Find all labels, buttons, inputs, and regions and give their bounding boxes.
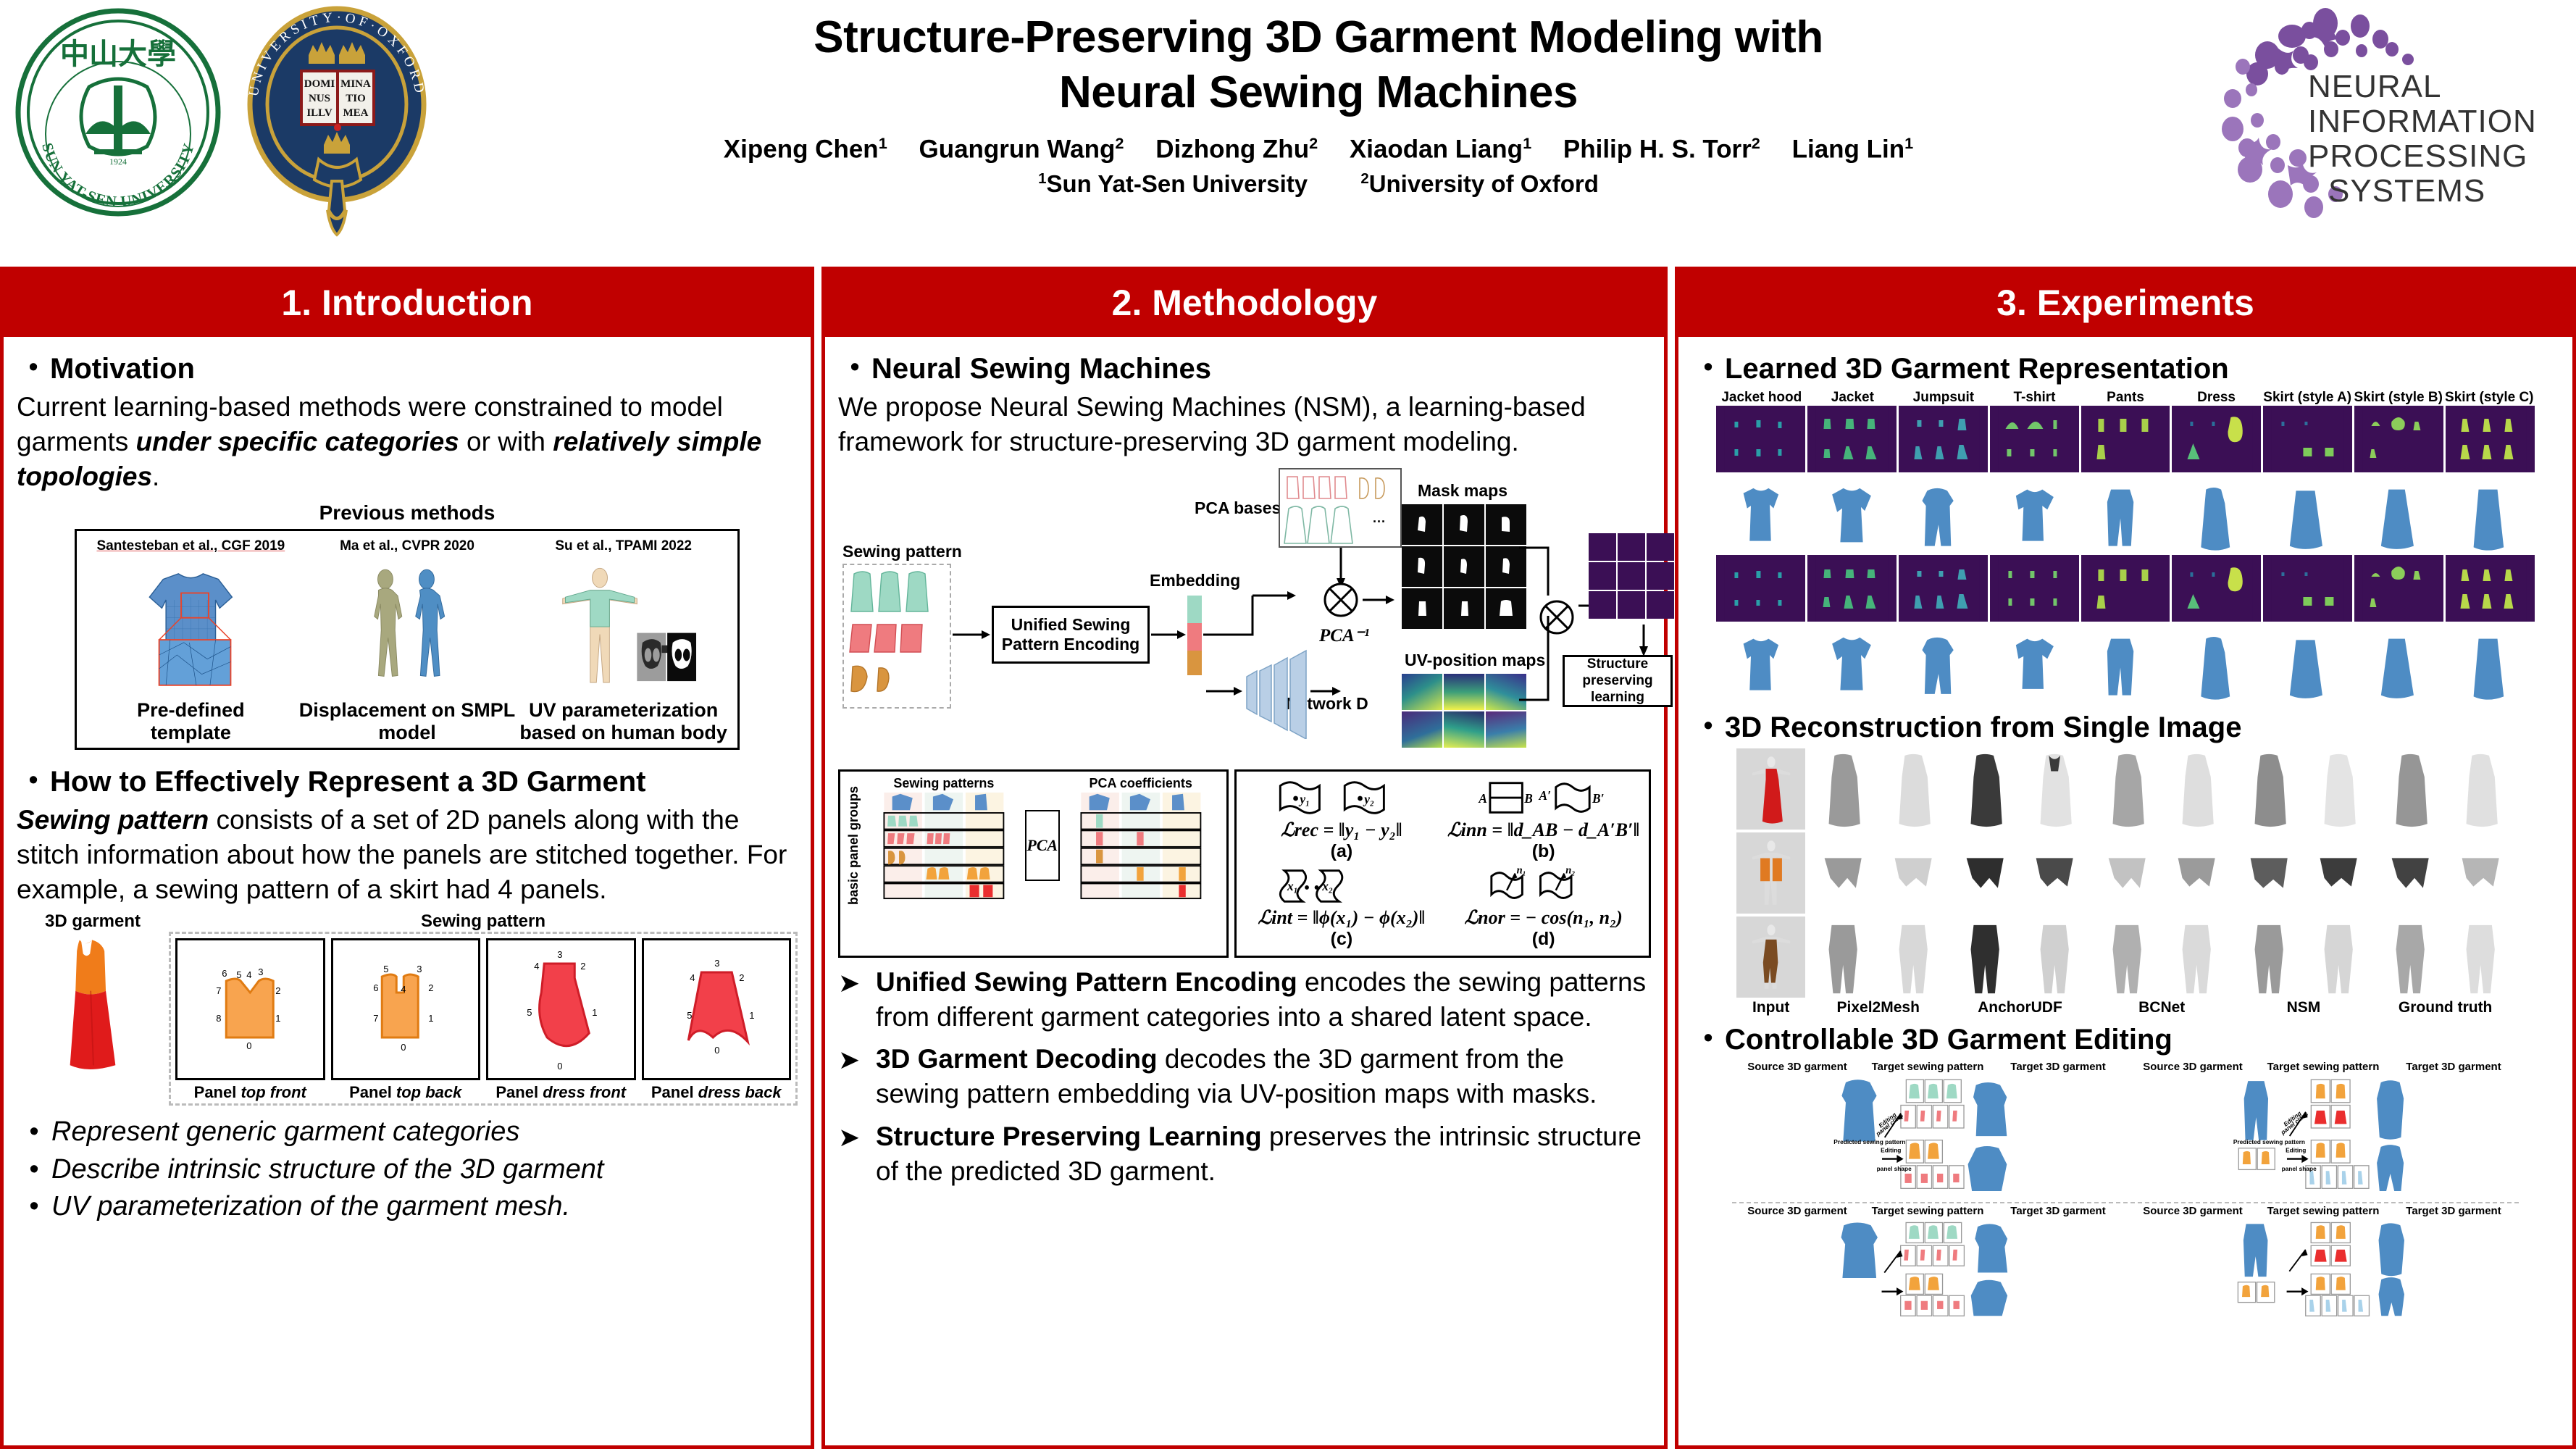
svg-text:x₂: x₂	[1321, 879, 1333, 893]
motivation-paragraph: Current learning-based methods were cons…	[17, 390, 798, 494]
editing-example-row-1: Source 3D garment Target sewing pattern …	[1732, 1061, 2519, 1200]
arrow-icon	[1636, 625, 1651, 656]
svg-text:0: 0	[401, 1042, 406, 1053]
arrow-icon	[953, 629, 990, 640]
svg-text:Editing: Editing	[1881, 1146, 1901, 1153]
bullet-dot-icon: •	[17, 766, 50, 793]
svg-text:Editing: Editing	[2286, 1146, 2306, 1153]
pca-coefficients-label: PCA coefficients	[1060, 776, 1222, 791]
svg-text:y₁: y₁	[1298, 792, 1310, 806]
author: Xiaodan Liang1	[1350, 134, 1531, 164]
masked-uv-output-grid	[1589, 533, 1674, 619]
loss-nor-equation: ℒnor = − cos(n₁, n₂)	[1442, 907, 1644, 929]
svg-text:1924: 1924	[109, 156, 127, 167]
nsm-pipeline-diagram: Sewing pattern	[838, 464, 1651, 768]
reconstruction-figure: Input Pixel2Mesh AnchorUDF BCNet NSM Gro…	[1691, 748, 2559, 1016]
garment-category-labels: Jacket hoodJacket JumpsuitT-shirt PantsD…	[1716, 390, 2535, 406]
svg-text:5: 5	[527, 1007, 532, 1018]
bullet-controllable-editing: • Controllable 3D Garment Editing	[1691, 1024, 2559, 1056]
column-1-header: 1. Introduction	[4, 270, 811, 337]
svg-text:0: 0	[714, 1045, 719, 1056]
svg-text:0: 0	[246, 1040, 251, 1051]
affiliation-list: 1Sun Yat-Sen University 2University of O…	[464, 170, 2173, 198]
reconstruction-method-column	[2376, 748, 2514, 998]
uv-map-row	[1716, 406, 2535, 472]
svg-text:6: 6	[373, 982, 378, 993]
author: Liang Lin1	[1792, 134, 1914, 164]
closing-bullet-list: •Represent generic garment categories •D…	[17, 1114, 798, 1224]
svg-text:DOMI: DOMI	[304, 78, 335, 90]
column-3-header: 3. Experiments	[1678, 270, 2572, 337]
learned-representation-label: Learned 3D Garment Representation	[1725, 353, 2229, 385]
svg-text:中山大學: 中山大學	[60, 38, 176, 71]
reconstruction-method-column	[2093, 748, 2231, 998]
bullet-dot-icon: •	[17, 353, 50, 380]
reconstruction-grid	[1736, 748, 2514, 998]
loss-rec-tag: (a)	[1241, 841, 1443, 862]
reconstruction-method-column	[1951, 748, 2089, 998]
basic-panel-groups-axis-label: basic panel groups	[845, 776, 863, 915]
svg-text:1: 1	[275, 1013, 280, 1024]
structure-preserving-learning-box: Structure preservinglearning	[1563, 655, 1673, 707]
bullet-3d-reconstruction: • 3D Reconstruction from Single Image	[1691, 711, 2559, 744]
panel-caption: Panel dress front	[486, 1083, 636, 1102]
svg-text:6: 6	[222, 968, 227, 979]
loss-inn: A B A′ B′ ℒinn = ‖d_AB − d_A′B′‖ (b)	[1442, 777, 1644, 862]
previous-method-ref: Su et al., TPAMI 2022	[515, 538, 732, 554]
svg-text:n₂: n₂	[1566, 865, 1576, 877]
previous-methods-caption: Previous methods	[75, 501, 740, 525]
poster-title-line1: Structure-Preserving 3D Garment Modeling…	[464, 10, 2173, 65]
bullet-learned-representation: • Learned 3D Garment Representation	[1691, 353, 2559, 385]
panel-cell: 53 642 71 0 Panel top back	[331, 938, 481, 1102]
svg-text:···: ···	[1373, 514, 1386, 529]
svg-text:1: 1	[592, 1007, 597, 1018]
previous-method-cell: Santesteban et al., CGF 2019	[83, 538, 299, 743]
smpl-displacement-illustration	[299, 559, 516, 696]
poster-root: 中山大學 1924 SUN YAT-SEN UNIVERSITY UNIVERS…	[0, 0, 2576, 1449]
tshirt-mesh-illustration	[83, 559, 299, 696]
editing-example-row-2: Source 3D garment Target sewing pattern …	[1732, 1205, 2519, 1319]
pipeline-sewing-pattern-label: Sewing pattern	[842, 542, 962, 561]
chevron-right-icon: ➤	[838, 1119, 876, 1155]
previous-method-label: UV parameterizationbased on human body	[515, 699, 732, 743]
bullet-dot-icon: •	[17, 1114, 51, 1150]
sewing-pattern-label: Sewing pattern	[169, 911, 798, 932]
uv-parameterization-illustration	[515, 559, 732, 696]
svg-text:2: 2	[580, 961, 585, 972]
neurips-line-1: NEURAL	[2308, 69, 2442, 104]
loss-inn-equation: ℒinn = ‖d_AB − d_A′B′‖	[1442, 819, 1644, 841]
list-item: •Represent generic garment categories	[17, 1114, 798, 1150]
svg-text:4: 4	[246, 969, 251, 980]
svg-text:1: 1	[428, 1013, 433, 1024]
svg-text:B′: B′	[1592, 791, 1605, 806]
sewing-pattern-panels: 6543 72 81 0 Panel top front	[169, 932, 798, 1106]
panel-caption: Panel top front	[175, 1083, 325, 1102]
nsm-paragraph: We propose Neural Sewing Machines (NSM),…	[838, 390, 1651, 459]
panel-caption: Panel dress back	[642, 1083, 792, 1102]
svg-text:3: 3	[557, 949, 562, 960]
svg-text:5: 5	[236, 969, 241, 980]
svg-text:A′: A′	[1539, 788, 1552, 803]
reconstruction-label: 3D Reconstruction from Single Image	[1725, 711, 2241, 744]
loss-nor: n₁ n₂ ℒnor = − cos(n₁, n₂) (d)	[1442, 865, 1644, 950]
list-item: ➤ 3D Garment Decoding decodes the 3D gar…	[838, 1042, 1651, 1111]
svg-text:7: 7	[216, 985, 221, 996]
loss-int-equation: ℒint = ‖ϕ(x₁) − ϕ(x₂)‖	[1241, 907, 1443, 929]
pca-box: PCA	[1025, 810, 1060, 881]
university-of-oxford-logo: UNIVERSITY·OF·OXFORD DOMI NUS ILLV	[239, 3, 435, 242]
previous-method-ref: Santesteban et al., CGF 2019	[83, 538, 299, 554]
3d-garment-label: 3D garment	[17, 911, 169, 932]
svg-text:A: A	[1479, 791, 1488, 806]
svg-text:panel shape: panel shape	[1877, 1165, 1912, 1172]
loss-rec-equation: ℒrec = ‖y₁ − y₂‖	[1241, 819, 1443, 841]
svg-text:4: 4	[401, 984, 406, 995]
bullet-dot-icon: •	[17, 1152, 51, 1187]
svg-text:NUS: NUS	[309, 93, 330, 104]
author: Philip H. S. Torr2	[1563, 134, 1760, 164]
svg-text:2: 2	[428, 982, 433, 993]
loss-rec: y₁ y₂ ℒrec = ‖y₁ − y₂‖ (a)	[1241, 777, 1443, 862]
embedding-bar	[1187, 596, 1202, 675]
loss-inn-tag: (b)	[1442, 841, 1644, 862]
neurips-line-3: PROCESSING	[2308, 138, 2527, 174]
author: Dizhong Zhu2	[1155, 134, 1318, 164]
reconstruction-method-column	[2235, 748, 2373, 998]
panel-cell: 342 510 Panel dress back	[642, 938, 792, 1102]
poster-header: 中山大學 1924 SUN YAT-SEN UNIVERSITY UNIVERS…	[0, 0, 2576, 267]
pca-inverse-operator-icon	[1319, 578, 1363, 622]
neurips-line-2: INFORMATION	[2308, 104, 2537, 139]
3d-garment-render	[17, 932, 169, 1069]
svg-text:B: B	[1524, 791, 1534, 806]
svg-text:1: 1	[749, 1010, 754, 1021]
svg-text:3: 3	[417, 964, 422, 974]
svg-text:5: 5	[687, 1010, 692, 1021]
reconstruction-method-labels: Input Pixel2Mesh AnchorUDF BCNet NSM Gro…	[1736, 999, 2514, 1016]
svg-text:2: 2	[739, 972, 744, 983]
svg-text:0: 0	[557, 1061, 562, 1072]
previous-methods-figure: Previous methods Santesteban et al., CGF…	[17, 501, 798, 749]
sewing-patterns-label: Sewing patterns	[863, 776, 1025, 791]
column-experiments: 3. Experiments • Learned 3D Garment Repr…	[1675, 267, 2576, 1449]
svg-text:Predicted sewing pattern: Predicted sewing pattern	[1833, 1138, 1905, 1145]
sun-yat-sen-university-logo: 中山大學 1924 SUN YAT-SEN UNIVERSITY	[13, 7, 223, 217]
svg-text:3: 3	[258, 966, 263, 977]
garment-render-row	[1716, 472, 2535, 552]
garment-render-row-2	[1716, 622, 2535, 701]
loss-nor-tag: (d)	[1442, 929, 1644, 950]
svg-text:panel shape: panel shape	[2282, 1165, 2317, 1172]
panel-cell: 6543 72 81 0 Panel top front	[175, 938, 325, 1102]
svg-text:y₂: y₂	[1363, 792, 1374, 806]
previous-method-cell: Ma et al., CVPR 2020	[299, 538, 516, 743]
affiliation: 2University of Oxford	[1360, 170, 1599, 198]
editing-example: Source 3D garment Target sewing pattern …	[1732, 1205, 2123, 1319]
pca-detail-box: basic panel groups Sewing patterns PCA c…	[838, 769, 1229, 958]
bullet-dot-icon: •	[17, 1189, 51, 1224]
pca-bases-thumbnails: ···	[1279, 468, 1402, 548]
panel-cell: 342 510 Panel dress front	[486, 938, 636, 1102]
svg-text:x₁: x₁	[1287, 879, 1298, 893]
editing-label: Controllable 3D Garment Editing	[1725, 1024, 2173, 1056]
bullet-motivation: • Motivation	[17, 353, 798, 385]
bullet-dot-icon: •	[838, 353, 871, 380]
svg-text:2: 2	[275, 985, 280, 996]
bullet-neural-sewing-machines: • Neural Sewing Machines	[838, 353, 1651, 385]
svg-text:n₁: n₁	[1517, 865, 1526, 877]
bullet-motivation-label: Motivation	[50, 353, 195, 385]
previous-method-label: Pre-definedtemplate	[83, 699, 299, 743]
svg-text:8: 8	[216, 1013, 221, 1024]
network-d-illustration	[1205, 645, 1393, 739]
poster-columns: 1. Introduction • Motivation Current lea…	[0, 267, 2576, 1449]
list-item: •Describe intrinsic structure of the 3D …	[17, 1152, 798, 1187]
loss-functions-box: y₁ y₂ ℒrec = ‖y₁ − y₂‖ (a)	[1234, 769, 1651, 958]
neurips-logo: NEURAL INFORMATION PROCESSING SYSTEMS	[2201, 4, 2563, 236]
unified-sewing-pattern-encoding-box: Unified SewingPattern Encoding	[992, 606, 1150, 664]
previous-method-label: Displacement on SMPLmodel	[299, 699, 516, 743]
svg-text:3: 3	[714, 958, 719, 969]
panel-caption: Panel top back	[331, 1083, 481, 1102]
affiliation: 1Sun Yat-Sen University	[1038, 170, 1308, 198]
mask-maps-label: Mask maps	[1418, 481, 1507, 501]
previous-method-cell: Su et al., TPAMI 2022	[515, 538, 732, 743]
svg-text:Predicted sewing pattern: Predicted sewing pattern	[2233, 1138, 2305, 1145]
method-detail-row: basic panel groups Sewing patterns PCA c…	[838, 769, 1651, 958]
bullet-dot-icon: •	[1691, 711, 1725, 739]
title-block: Structure-Preserving 3D Garment Modeling…	[464, 10, 2173, 198]
svg-text:MEA: MEA	[343, 107, 369, 119]
sewing-pattern-figure: 3D garment Sewing pattern	[17, 911, 798, 1106]
editing-example: Source 3D garment Target sewing pattern …	[1732, 1061, 2123, 1200]
svg-text:4: 4	[690, 972, 695, 983]
list-item: ➤ Structure Preserving Learning preserve…	[838, 1119, 1651, 1189]
svg-text:5: 5	[383, 964, 388, 974]
loss-int: x₁ x₂ ℒint = ‖ϕ(x₁) − ϕ(x₂)‖ (c)	[1241, 865, 1443, 950]
svg-text:4: 4	[534, 961, 539, 972]
bullet-dot-icon: •	[1691, 353, 1725, 380]
bullet-nsm-label: Neural Sewing Machines	[871, 353, 1211, 385]
editing-example: Source 3D garment Target sewing pattern …	[2128, 1061, 2519, 1200]
editing-example: Source 3D garment Target sewing pattern …	[2128, 1205, 2519, 1319]
loss-int-tag: (c)	[1241, 929, 1443, 950]
arrow-icon	[1151, 629, 1186, 640]
pca-bases-label: PCA bases	[1195, 498, 1281, 518]
column-methodology: 2. Methodology • Neural Sewing Machines …	[821, 267, 1668, 1449]
arrow-icon	[1363, 594, 1394, 606]
svg-text:ILLV: ILLV	[306, 107, 332, 119]
svg-text:MINA: MINA	[340, 78, 371, 90]
column-2-header: 2. Methodology	[825, 270, 1664, 337]
list-item: •UV parameterization of the garment mesh…	[17, 1189, 798, 1224]
poster-title-line2: Neural Sewing Machines	[464, 65, 2173, 120]
reconstruction-method-column	[1809, 748, 1947, 998]
bullet-represent-garment: • How to Effectively Represent a 3D Garm…	[17, 766, 798, 798]
column-introduction: 1. Introduction • Motivation Current lea…	[0, 267, 814, 1449]
author: Guangrun Wang2	[919, 134, 1124, 164]
previous-method-ref: Ma et al., CVPR 2020	[299, 538, 516, 554]
controllable-editing-figure: Source 3D garment Target sewing pattern …	[1691, 1061, 2559, 1319]
svg-text:7: 7	[373, 1013, 378, 1024]
uv-map-row-2	[1716, 555, 2535, 622]
chevron-right-icon: ➤	[838, 965, 876, 1001]
uv-position-maps-grid	[1402, 674, 1526, 748]
author-list: Xipeng Chen1 Guangrun Wang2 Dizhong Zhu2…	[464, 134, 2173, 164]
sewing-pattern-group	[842, 564, 951, 709]
learned-representation-figure: Jacket hoodJacket JumpsuitT-shirt PantsD…	[1691, 390, 2559, 701]
chevron-right-icon: ➤	[838, 1042, 876, 1077]
neurips-line-4: SYSTEMS	[2328, 173, 2485, 209]
bullet-represent-label: How to Effectively Represent a 3D Garmen…	[50, 766, 645, 798]
represent-paragraph: Sewing pattern consists of a set of 2D p…	[17, 803, 798, 907]
editing-divider	[1732, 1202, 2519, 1203]
bullet-dot-icon: •	[1691, 1024, 1725, 1051]
svg-text:TIO: TIO	[346, 93, 366, 104]
author: Xipeng Chen1	[724, 134, 887, 164]
reconstruction-input-column	[1736, 748, 1805, 998]
pca-inverse-label: PCA⁻¹	[1319, 625, 1369, 646]
mask-maps-grid	[1402, 504, 1526, 629]
list-item: ➤ Unified Sewing Pattern Encoding encode…	[838, 965, 1651, 1035]
methodology-bullet-list: ➤ Unified Sewing Pattern Encoding encode…	[838, 965, 1651, 1189]
